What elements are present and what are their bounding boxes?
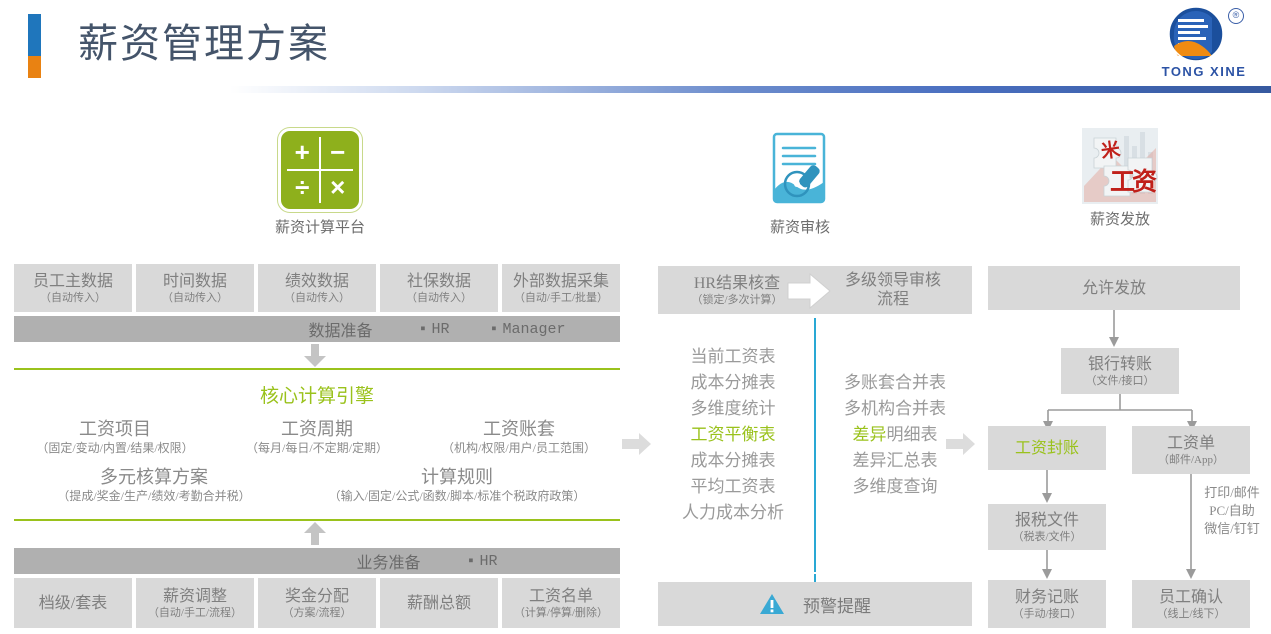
box-subtitle: （文件/接口） (1085, 374, 1154, 388)
section-caption: 薪资计算平台 (258, 216, 382, 237)
box-title: 奖金分配 (285, 587, 349, 606)
data-prep-label: 数据准备 (308, 317, 372, 341)
engine-item: 工资项目 （固定/变动/内置/结果/权限） (14, 418, 216, 456)
box-subtitle: （自动/手工/流程） (148, 606, 242, 620)
data-source-box[interactable]: 社保数据 （自动传入） (380, 264, 498, 312)
box-subtitle: （税表/文件） (1012, 530, 1081, 544)
calc-multiply-icon: × (322, 172, 355, 205)
svg-text:资: 资 (1132, 168, 1157, 196)
section-caption: 薪资发放 (1058, 208, 1182, 229)
engine-item-title: 工资周期 (216, 418, 418, 440)
report-list-right: 多账套合并表 多机构合并表 差异明细表 差异汇总表 多维度查询 (816, 370, 974, 500)
list-item[interactable]: 平均工资表 (654, 474, 812, 500)
stamped-document-icon (758, 128, 842, 212)
box-subtitle: （方案/流程） (282, 606, 351, 620)
box-subtitle: （线上/线下） (1156, 607, 1225, 621)
box-subtitle: （邮件/App） (1158, 453, 1224, 467)
list-item[interactable]: 成本分摊表 (654, 370, 812, 396)
role-manager: Manager (503, 321, 566, 338)
flow-connector-arrow-icon (1040, 550, 1054, 580)
box-title: 财务记账 (1015, 588, 1079, 607)
data-source-box[interactable]: 员工主数据 （自动传入） (14, 264, 132, 312)
salary-closing-box[interactable]: 工资封账 (988, 426, 1106, 470)
multilevel-approval-box[interactable]: 多级领导审核 流程 (814, 266, 972, 314)
company-logo: ® TONG XINE (1150, 6, 1258, 84)
flow-connector-arrow-icon (1107, 310, 1121, 348)
channel-line: PC/自助 (1196, 502, 1268, 520)
engine-item-subtitle: （输入/固定/公式/函数/脚本/标准个税政府政策） (292, 488, 622, 504)
allow-payout-box[interactable]: 允许发放 (988, 266, 1240, 310)
title-accent-blue (28, 14, 41, 56)
flow-connector-arrow-icon (1040, 470, 1054, 504)
engine-item: 计算规则 （输入/固定/公式/函数/脚本/标准个税政府政策） (292, 466, 622, 504)
data-source-box[interactable]: 绩效数据 （自动传入） (258, 264, 376, 312)
engine-top-rule (14, 368, 620, 370)
box-subtitle: （锁定/多次计算） (691, 293, 782, 307)
list-item-highlighted[interactable]: 差异明细表 (816, 422, 974, 448)
biz-prep-label: 业务准备 (356, 549, 420, 573)
box-title: 薪资调整 (163, 587, 227, 606)
delivery-channels-note: 打印/邮件 PC/自助 微信/钉钉 (1196, 484, 1268, 538)
header-divider-rule (230, 86, 1271, 93)
salary-puzzle-icon: 米 工 资 (1082, 128, 1158, 204)
box-title: 银行转账 (1088, 355, 1152, 374)
box-title: 薪酬总额 (407, 594, 471, 613)
tax-filing-box[interactable]: 报税文件 （税表/文件） (988, 504, 1106, 550)
engine-title: 核心计算引擎 (14, 381, 620, 408)
section-audit: 薪资审核 (738, 128, 862, 237)
box-title: 允许发放 (1082, 279, 1146, 298)
engine-item-subtitle: （固定/变动/内置/结果/权限） (14, 440, 216, 456)
box-subtitle: （自动传入） (284, 291, 350, 305)
calc-minus-icon: − (322, 136, 355, 169)
box-subtitle: （自动传入） (406, 291, 472, 305)
list-item[interactable]: 差异汇总表 (816, 448, 974, 474)
engine-item-subtitle: （每月/每日/不定期/定期） (216, 440, 418, 456)
box-subtitle: （自动传入） (40, 291, 106, 305)
box-title: 外部数据采集 (513, 272, 609, 291)
registered-trademark-icon: ® (1228, 8, 1244, 24)
channel-line: 微信/钉钉 (1196, 520, 1268, 538)
list-item-highlight-prefix: 差异 (853, 425, 887, 444)
box-title: 多级领导审核 (845, 271, 941, 290)
engine-item-title: 计算规则 (292, 466, 622, 488)
section-payout: 米 工 资 薪资发放 (1058, 128, 1182, 229)
data-source-box[interactable]: 外部数据采集 （自动/手工/批量） (502, 264, 620, 312)
list-item[interactable]: 多账套合并表 (816, 370, 974, 396)
tongxine-logo-icon (1168, 6, 1224, 62)
list-item[interactable]: 多机构合并表 (816, 396, 974, 422)
list-item[interactable]: 人力成本分析 (654, 500, 812, 526)
box-title: 档级/套表 (39, 594, 107, 613)
list-item-highlighted[interactable]: 工资平衡表 (654, 422, 812, 448)
box-title: 员工主数据 (33, 272, 113, 291)
middle-column-divider-stub (814, 574, 816, 582)
calc-divide-icon: ÷ (286, 172, 319, 205)
approval-chevron-icon (786, 272, 832, 310)
box-title: 工资封账 (1015, 439, 1079, 458)
page-title: 薪资管理方案 (78, 14, 778, 74)
box-title: 报税文件 (1015, 511, 1079, 530)
data-source-box[interactable]: 时间数据 （自动传入） (136, 264, 254, 312)
engine-item-subtitle: （机构/权限/用户/员工范围） (418, 440, 620, 456)
calc-plus-icon: + (286, 136, 319, 169)
box-title: HR结果核查 (694, 274, 780, 293)
employee-confirm-box[interactable]: 员工确认 （线上/线下） (1132, 580, 1250, 628)
finance-posting-box[interactable]: 财务记账 （手动/接口） (988, 580, 1106, 628)
biz-item-box[interactable]: 工资名单 （计算/停算/删除） (502, 578, 620, 628)
alert-label: 预警提醒 (803, 592, 871, 617)
header: 薪资管理方案 ® TONG XINE (0, 0, 1271, 92)
data-prep-bar: 数据准备 ▪ HR ▪ Manager (14, 316, 620, 342)
logo-wordmark: TONG XINE (1150, 64, 1258, 79)
list-item[interactable]: 多维度查询 (816, 474, 974, 500)
box-title: 时间数据 (163, 272, 227, 291)
list-item[interactable]: 多维度统计 (654, 396, 812, 422)
title-accent-orange (28, 56, 41, 78)
bank-transfer-box[interactable]: 银行转账 （文件/接口） (1061, 348, 1179, 394)
role-hr: HR (480, 553, 498, 570)
box-title: 绩效数据 (285, 272, 349, 291)
flow-arrow-up-icon (302, 521, 328, 545)
engine-item: 工资周期 （每月/每日/不定期/定期） (216, 418, 418, 456)
biz-item-box[interactable]: 奖金分配 （方案/流程） (258, 578, 376, 628)
list-item[interactable]: 当前工资表 (654, 344, 812, 370)
engine-item: 多元核算方案 （提成/奖金/生产/绩效/考勤合并税） (14, 466, 294, 504)
box-title-line2: 流程 (877, 290, 909, 309)
biz-item-box[interactable]: 薪酬总额 (380, 578, 498, 628)
engine-item-subtitle: （提成/奖金/生产/绩效/考勤合并税） (14, 488, 294, 504)
box-title: 工资名单 (529, 587, 593, 606)
box-title: 员工确认 (1159, 588, 1223, 607)
report-list-left: 当前工资表 成本分摊表 多维度统计 工资平衡表 成本分摊表 平均工资表 人力成本… (654, 344, 812, 526)
payslip-box[interactable]: 工资单 （邮件/App） (1132, 426, 1250, 474)
engine-item-title: 工资账套 (418, 418, 620, 440)
biz-item-box[interactable]: 薪资调整 （自动/手工/流程） (136, 578, 254, 628)
channel-line: 打印/邮件 (1196, 484, 1268, 502)
engine-item-title: 多元核算方案 (14, 466, 294, 488)
section-calc-platform: + − ÷ × 薪资计算平台 (258, 128, 382, 237)
engine-item-title: 工资项目 (14, 418, 216, 440)
flow-arrow-down-icon (302, 344, 328, 368)
box-title: 工资单 (1167, 434, 1215, 453)
box-subtitle: （计算/停算/删除） (514, 606, 608, 620)
role-hr: HR (431, 321, 449, 338)
list-item-rest: 明细表 (887, 425, 938, 444)
warning-triangle-icon (759, 592, 785, 616)
box-subtitle: （自动/手工/批量） (514, 291, 608, 305)
biz-prep-bar: 业务准备 ▪ HR (14, 548, 620, 574)
column-arrow-right-icon (622, 432, 652, 456)
section-caption: 薪资审核 (738, 216, 862, 237)
box-title: 社保数据 (407, 272, 471, 291)
box-subtitle: （手动/接口） (1012, 607, 1081, 621)
engine-item: 工资账套 （机构/权限/用户/员工范围） (418, 418, 620, 456)
calculator-icon: + − ÷ × (278, 128, 362, 212)
biz-item-box[interactable]: 档级/套表 (14, 578, 132, 628)
list-item[interactable]: 成本分摊表 (654, 448, 812, 474)
alert-reminder-box[interactable]: 预警提醒 (658, 582, 972, 626)
box-subtitle: （自动传入） (162, 291, 228, 305)
